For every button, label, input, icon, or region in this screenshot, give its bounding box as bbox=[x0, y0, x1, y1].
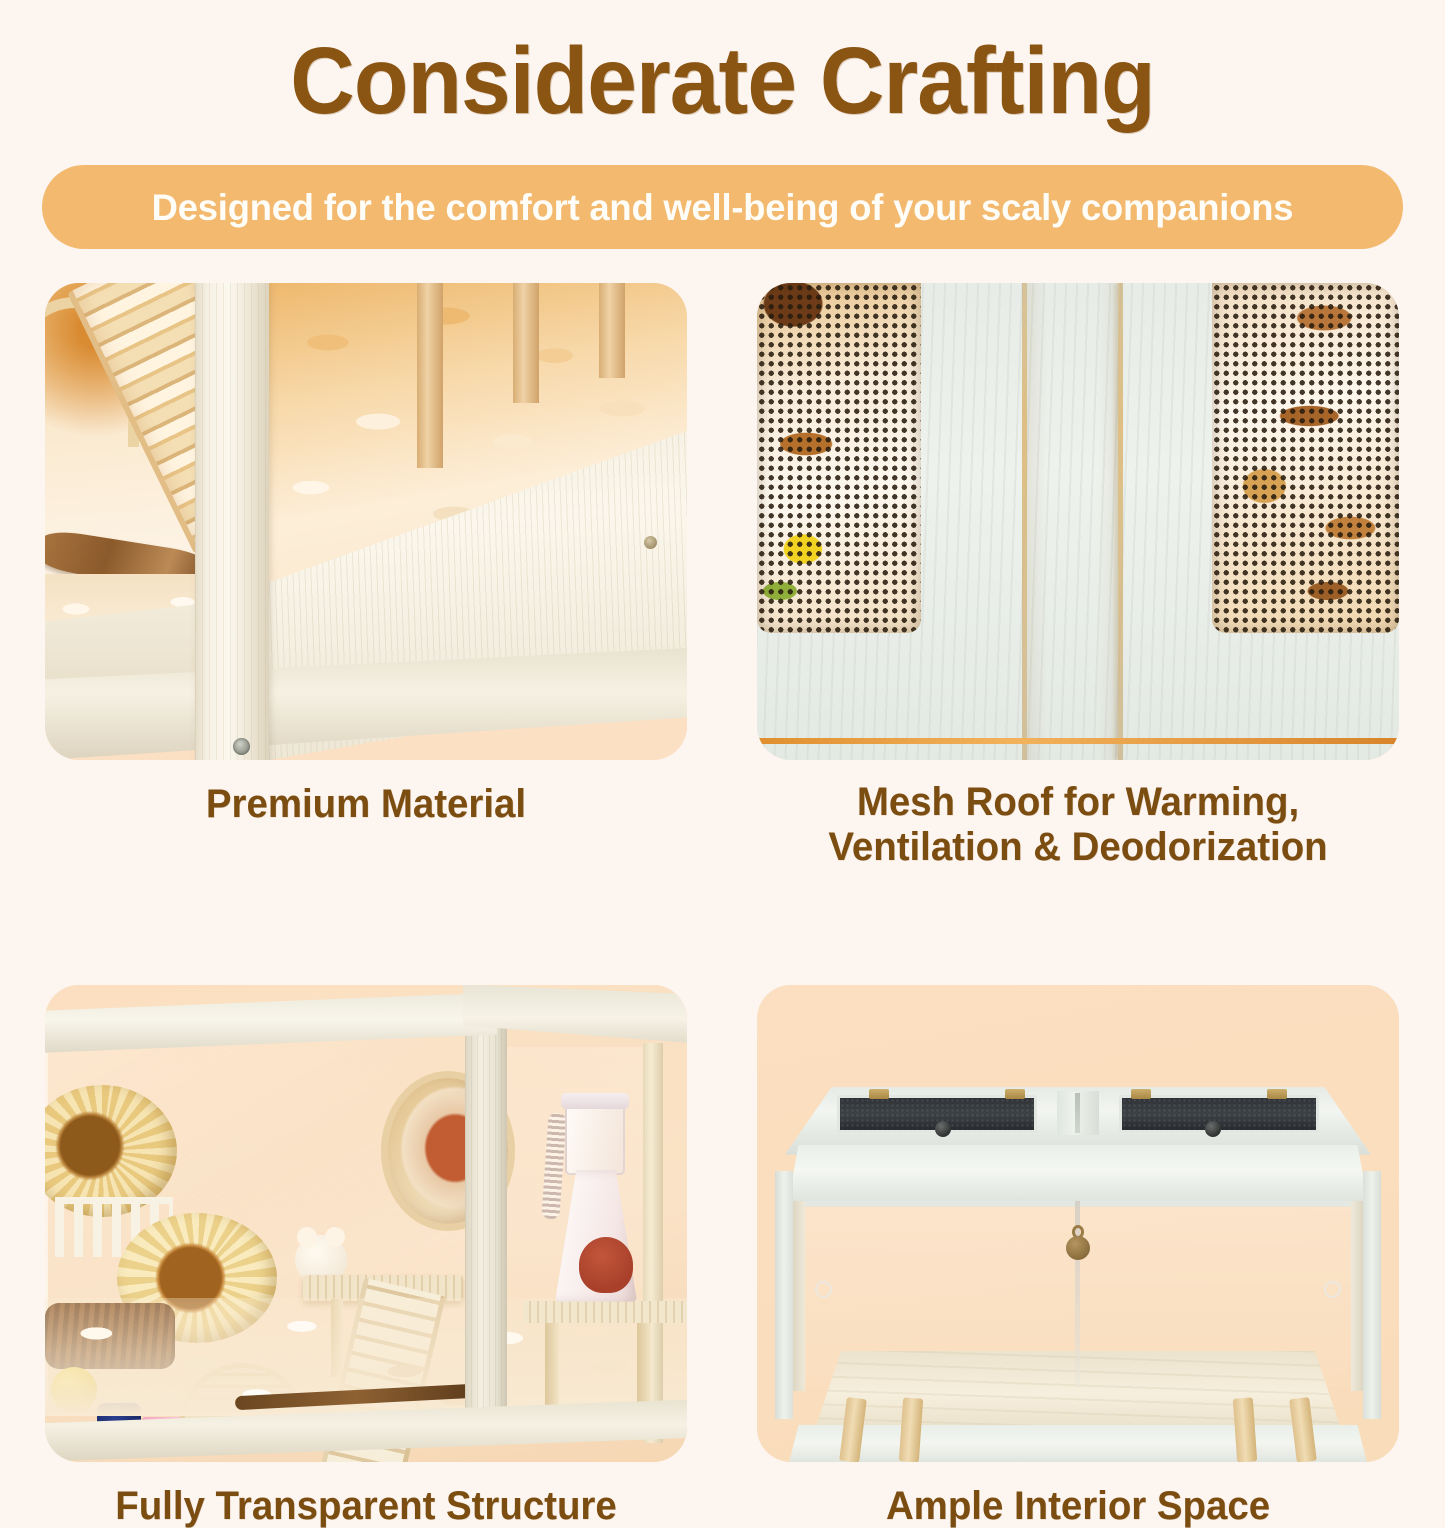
subtitle-banner: Designed for the comfort and well-being … bbox=[42, 165, 1403, 249]
feature-cell-ample-interior-space: Ample Interior Space bbox=[757, 985, 1399, 1528]
photo-transparent-structure bbox=[45, 985, 687, 1462]
hinge-icon bbox=[869, 1089, 889, 1099]
caption-line-1: Ample Interior Space bbox=[770, 1484, 1386, 1528]
hinge-icon bbox=[1267, 1089, 1287, 1099]
caption-ample-interior-space: Ample Interior Space bbox=[770, 1484, 1386, 1528]
caption-line-1: Fully Transparent Structure bbox=[58, 1484, 674, 1528]
roof-knob-left[interactable] bbox=[935, 1121, 951, 1137]
caption-line-2: Ventilation & Deodorization bbox=[770, 825, 1386, 870]
support-post bbox=[599, 283, 625, 378]
subtitle-text: Designed for the comfort and well-being … bbox=[152, 186, 1294, 229]
inner-post-left bbox=[791, 1201, 805, 1391]
feature-row-bottom: Fully Transparent Structure bbox=[45, 985, 1400, 1528]
support-post bbox=[417, 283, 443, 468]
corner-post bbox=[465, 1007, 507, 1437]
photo-premium-material bbox=[45, 283, 687, 760]
vent-eyelet-right bbox=[1324, 1281, 1341, 1298]
page-title: Considerate Crafting bbox=[43, 0, 1401, 129]
base-rail bbox=[787, 1425, 1369, 1462]
feature-cell-mesh-roof: Mesh Roof for Warming, Ventilation & Deo… bbox=[757, 283, 1399, 870]
caption-line-1: Premium Material bbox=[58, 782, 674, 827]
door-latch[interactable] bbox=[1065, 1225, 1089, 1261]
mesh-screen-left bbox=[757, 283, 921, 633]
roof-door-gap bbox=[1057, 1091, 1099, 1135]
roof-knob-right[interactable] bbox=[1205, 1121, 1221, 1137]
top-frame-rail bbox=[787, 1145, 1369, 1207]
front-edge-trim bbox=[757, 738, 1399, 744]
corner-post bbox=[195, 283, 269, 760]
bottle-cap bbox=[561, 1093, 629, 1109]
door-seam-right bbox=[1118, 283, 1123, 760]
mesh-screen-right bbox=[1212, 283, 1399, 633]
bottle-window bbox=[579, 1237, 633, 1293]
door-gap-shadow bbox=[1027, 283, 1118, 760]
feature-row-top: Premium Material Mesh Roof for Warming, … bbox=[45, 283, 1400, 870]
bottle-shelf bbox=[523, 1301, 687, 1323]
caption-transparent-structure: Fully Transparent Structure bbox=[58, 1484, 674, 1528]
caption-line-1: Mesh Roof for Warming, bbox=[770, 780, 1386, 825]
feature-cell-transparent-structure: Fully Transparent Structure bbox=[45, 985, 687, 1528]
photo-ample-interior-space bbox=[757, 985, 1399, 1462]
screw-icon bbox=[644, 536, 657, 549]
screw-icon bbox=[233, 738, 250, 755]
caption-mesh-roof: Mesh Roof for Warming, Ventilation & Deo… bbox=[770, 780, 1386, 870]
corner-post-left bbox=[775, 1171, 793, 1419]
hinge-icon bbox=[1131, 1089, 1151, 1099]
corner-post-right bbox=[1363, 1171, 1381, 1419]
latch-disc-icon bbox=[1066, 1236, 1090, 1260]
caption-premium-material: Premium Material bbox=[58, 782, 674, 827]
feature-grid: Premium Material Mesh Roof for Warming, … bbox=[45, 283, 1400, 1528]
bottle-reservoir bbox=[565, 1103, 625, 1175]
feature-cell-premium-material: Premium Material bbox=[45, 283, 687, 870]
door-seam-left bbox=[1022, 283, 1027, 760]
photo-mesh-roof bbox=[757, 283, 1399, 760]
cage-corner-scene bbox=[45, 283, 687, 760]
hinge-icon bbox=[1005, 1089, 1025, 1099]
support-post bbox=[513, 283, 539, 403]
vent-eyelet-left bbox=[815, 1281, 832, 1298]
